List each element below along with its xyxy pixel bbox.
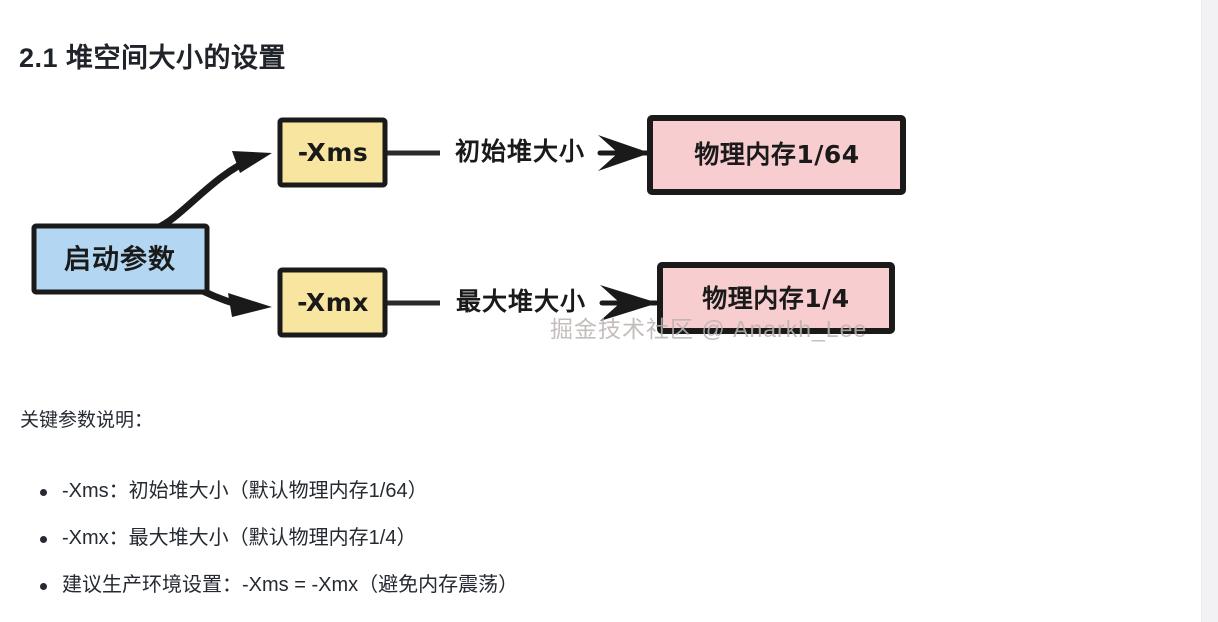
key-parameters-list: -Xms：初始堆大小（默认物理内存1/64） -Xmx：最大堆大小（默认物理内存… <box>20 478 518 599</box>
page-title: 2.1 堆空间大小的设置 <box>19 36 286 75</box>
list-item-label: -Xmx：最大堆大小（默认物理内存1/4） <box>62 527 416 549</box>
watermark-text: 掘金技术社区 @ Anarkh_Lee <box>550 316 867 342</box>
key-parameters-lead: 关键参数说明： <box>20 406 153 436</box>
node-physical-memory-1-64: 物理内存1/64 <box>650 118 903 192</box>
list-item-label: -Xms：初始堆大小（默认物理内存1/64） <box>62 480 428 502</box>
heap-parameter-diagram: 启动参数 -Xms -Xmx 初始堆大小 最大堆大小 物理内存1/64 <box>0 95 1000 385</box>
node-physical-memory-1-4-label: 物理内存1/4 <box>702 284 849 313</box>
node-physical-memory-1-64-label: 物理内存1/64 <box>694 140 859 169</box>
node-xmx-label: -Xmx <box>297 288 369 317</box>
node-startup-parameters: 启动参数 <box>34 226 207 292</box>
node-xms-label: -Xms <box>298 138 369 167</box>
document-page: 2.1 堆空间大小的设置 <box>0 0 1201 622</box>
vertical-scrollbar[interactable] <box>1201 0 1218 622</box>
list-item: 建议生产环境设置：-Xms = -Xmx（避免内存震荡） <box>20 572 518 599</box>
bullet-dot-icon <box>40 536 47 543</box>
arrow-root-to-xms <box>157 151 272 228</box>
node-startup-parameters-label: 启动参数 <box>64 244 176 276</box>
bullet-dot-icon <box>40 583 47 590</box>
list-item: -Xmx：最大堆大小（默认物理内存1/4） <box>20 525 518 552</box>
node-xms: -Xms <box>280 120 385 185</box>
edge-label-initial-heap-size: 初始堆大小 <box>455 137 585 166</box>
bullet-dot-icon <box>40 489 47 496</box>
list-item-label: 建议生产环境设置：-Xms = -Xmx（避免内存震荡） <box>62 574 518 596</box>
node-xmx: -Xmx <box>280 270 385 335</box>
list-item: -Xms：初始堆大小（默认物理内存1/64） <box>20 478 518 505</box>
edge-label-max-heap-size: 最大堆大小 <box>456 287 586 316</box>
arrow-xms-label-to-result <box>598 135 650 171</box>
